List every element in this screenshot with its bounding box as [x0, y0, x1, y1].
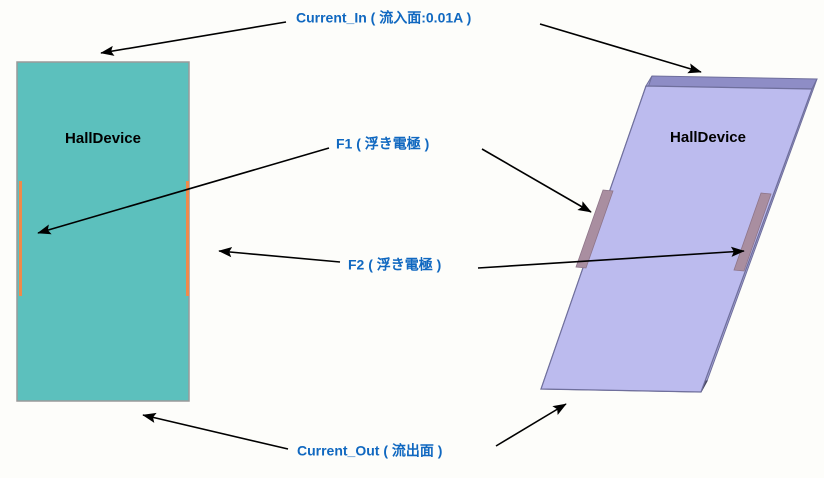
f1-right-arrow [482, 149, 591, 212]
diagram-canvas: HallDevice HallDevice Current_In ( 流入面:0… [0, 0, 824, 478]
current-out-right-arrow [496, 404, 566, 446]
hall-device-diagram: HallDevice HallDevice Current_In ( 流入面:0… [0, 0, 824, 478]
annotation-current-in[interactable]: Current_In ( 流入面:0.01A ) [101, 10, 701, 72]
current-in-left-arrow [101, 22, 286, 53]
electrode-f1-right-edge [186, 181, 189, 296]
current-in-label[interactable]: Current_In ( 流入面:0.01A ) [296, 10, 471, 26]
hall-device-3d-group[interactable]: HallDevice [541, 76, 817, 392]
f2-left-arrow [219, 251, 340, 262]
annotation-current-out[interactable]: Current_Out ( 流出面 ) [143, 404, 566, 459]
hall-device-flat-label: HallDevice [65, 130, 141, 147]
f1-label[interactable]: F1 ( 浮き電極 ) [336, 136, 429, 152]
electrode-f2-left-edge [19, 181, 22, 296]
current-out-left-arrow [143, 415, 288, 449]
current-in-right-arrow [540, 24, 701, 72]
current-out-label[interactable]: Current_Out ( 流出面 ) [297, 443, 442, 459]
hall-device-3d-label: HallDevice [670, 129, 746, 146]
f2-label[interactable]: F2 ( 浮き電極 ) [348, 257, 441, 273]
